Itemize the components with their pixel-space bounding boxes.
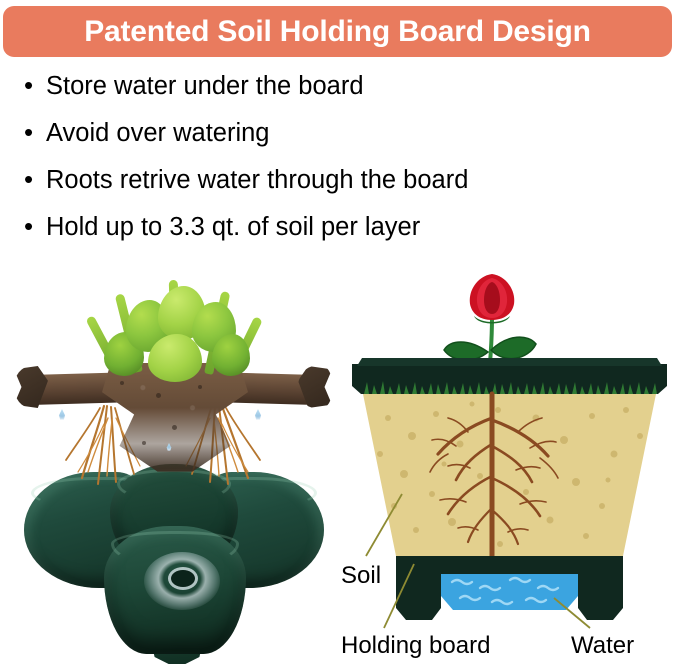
page-title: Patented Soil Holding Board Design <box>84 17 591 47</box>
callout-label-soil: Soil <box>341 564 381 588</box>
list-item: • Store water under the board <box>24 72 664 119</box>
plant-foliage <box>100 276 250 401</box>
feature-text: Roots retrive water through the board <box>46 168 468 194</box>
board-hole <box>172 425 177 430</box>
pot-rim-highlight <box>357 358 662 366</box>
planter-pot-illustration <box>24 464 324 654</box>
list-item: • Avoid over watering <box>24 119 664 166</box>
bullet-icon: • <box>24 213 46 239</box>
stackable-planter-photo <box>8 268 338 660</box>
planter-cross-section-graphic <box>340 268 679 660</box>
cross-section-diagram: Soil Holding board Water <box>340 268 679 660</box>
foliage-clump <box>212 334 250 376</box>
feature-text: Store water under the board <box>46 74 364 100</box>
feature-text: Hold up to 3.3 qt. of soil per layer <box>46 215 420 241</box>
figures-area: Soil Holding board Water <box>0 268 679 660</box>
list-item: • Hold up to 3.3 qt. of soil per layer <box>24 213 664 260</box>
rose-flower <box>470 274 515 324</box>
callout-label-holding-board: Holding board <box>341 634 490 658</box>
feature-list: • Store water under the board • Avoid ov… <box>24 72 664 260</box>
feature-text: Avoid over watering <box>46 121 270 147</box>
water-droplet-icon <box>58 409 66 420</box>
bullet-icon: • <box>24 72 46 98</box>
pot-foot-right <box>578 556 623 620</box>
bullet-icon: • <box>24 166 46 192</box>
header-banner: Patented Soil Holding Board Design <box>3 6 672 57</box>
foliage-clump <box>148 334 202 382</box>
bullet-icon: • <box>24 119 46 145</box>
list-item: • Roots retrive water through the board <box>24 166 664 213</box>
board-hole <box>142 441 146 445</box>
water-splash <box>144 552 220 610</box>
water-droplet-icon <box>254 409 262 420</box>
drain-hole <box>171 570 195 587</box>
callout-label-water: Water <box>571 634 634 658</box>
